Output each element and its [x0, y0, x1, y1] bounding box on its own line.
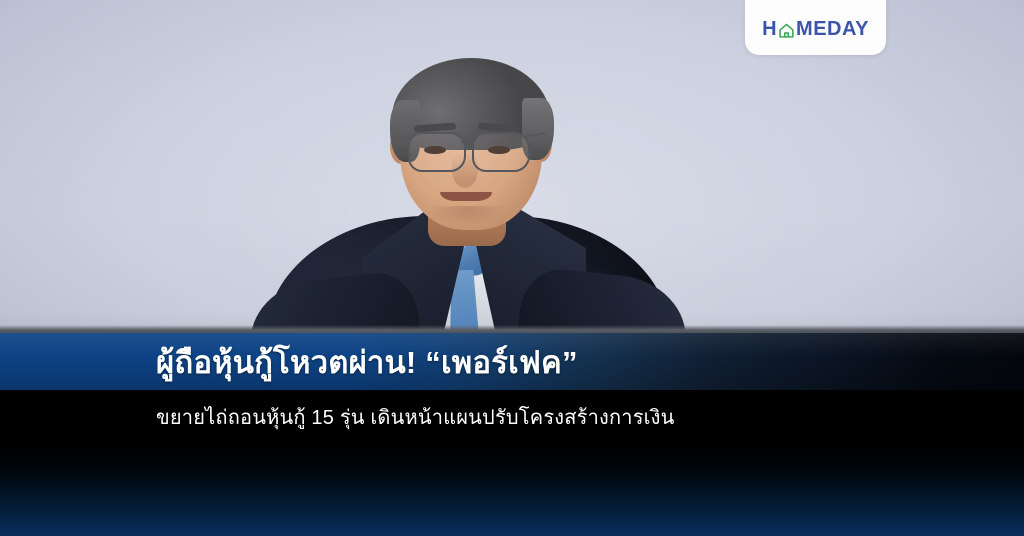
chin-shadow: [428, 206, 506, 226]
headline-text: ผู้ถือหุ้นกู้โหวตผ่าน! “เพอร์เฟค”: [156, 334, 578, 390]
mouth: [440, 192, 492, 201]
house-icon: [778, 22, 795, 39]
banner-bottom-gradient: [0, 445, 1024, 536]
eyeglasses-lens-left: [408, 132, 466, 172]
logo-text-after: MEDAY: [796, 18, 869, 41]
homeday-logo: H MEDAY: [762, 18, 869, 41]
eyeglasses-bridge: [461, 141, 474, 143]
portrait-photo: [232, 46, 702, 346]
subheadline-text: ขยายไถ่ถอนหุ้นกู้ 15 รุ่น เดินหน้าแผนปรั…: [156, 392, 675, 442]
homeday-logo-card[interactable]: H MEDAY: [745, 0, 886, 55]
eyeglasses-lens-right: [472, 132, 530, 172]
news-banner-image: H MEDAY ผู้ถือหุ้นกู้โหวตผ่าน! “เพอร์เฟค…: [0, 0, 1024, 536]
logo-text-before: H: [762, 18, 777, 41]
